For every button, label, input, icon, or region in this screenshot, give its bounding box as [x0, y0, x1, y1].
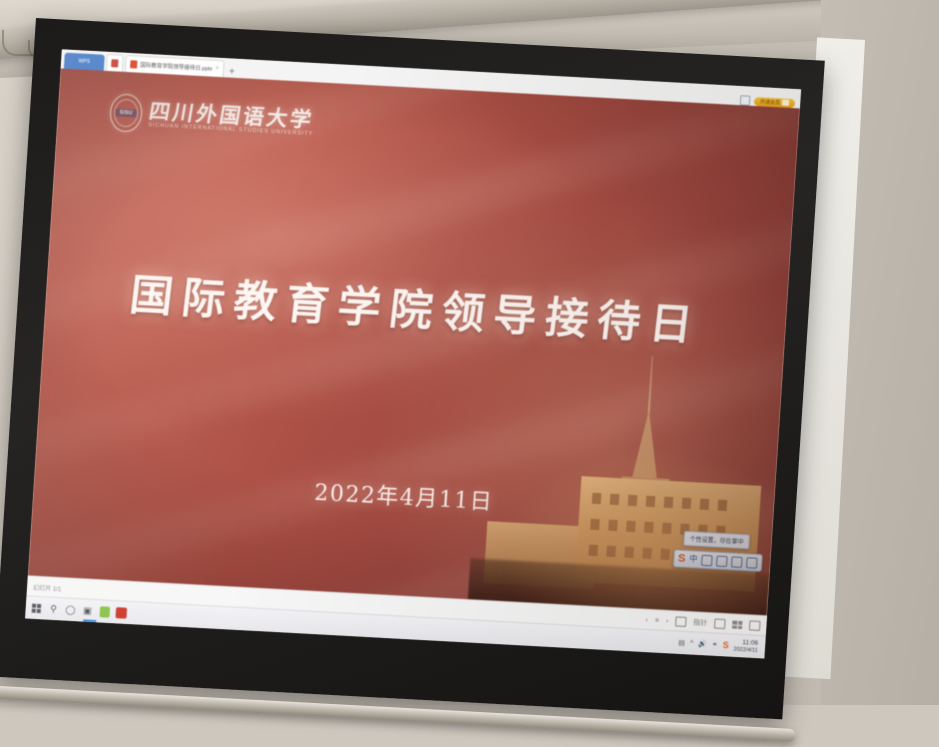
tower-spire — [631, 409, 662, 482]
crest-text: SISU — [119, 110, 132, 117]
toolbox-icon[interactable] — [746, 557, 758, 569]
spire-needle — [648, 356, 654, 414]
pointer-label[interactable]: 指针 — [693, 617, 708, 628]
previous-slide-button[interactable]: ‹ — [645, 616, 648, 623]
wps-red-icon[interactable] — [114, 606, 128, 620]
projection-screen-surface: WPS 国际教育学院领导接待日.pptx × + 开通会员 — [25, 49, 801, 658]
close-icon[interactable]: × — [215, 66, 219, 72]
wps-green-icon[interactable] — [97, 605, 111, 619]
presentation-file-icon — [130, 60, 138, 68]
university-logo-lockup: SISU 四川外国语大学 SICHUAN INTERNATIONAL STUDI… — [109, 93, 315, 142]
clock-date: 2022/4/11 — [733, 646, 757, 654]
search-icon[interactable]: ⚲ — [46, 602, 60, 616]
presenter-view-icon[interactable] — [714, 619, 726, 630]
network-icon[interactable]: ⚭ — [712, 640, 718, 648]
next-slide-button[interactable]: › — [666, 617, 669, 624]
crown-icon — [782, 99, 789, 105]
more-icon[interactable] — [749, 620, 761, 631]
ime-icon[interactable]: ▤ — [678, 639, 685, 647]
system-tray: ▤ ^ 🔊 ⚭ S 11:06 2022/4/11 — [678, 636, 761, 654]
taskbar-clock[interactable]: 11:06 2022/4/11 — [733, 639, 758, 654]
presentation-file-icon — [111, 59, 119, 67]
wps-document-tab-1[interactable] — [106, 54, 124, 72]
sogou-icon[interactable]: S — [723, 640, 730, 650]
volume-icon[interactable]: 🔊 — [698, 640, 707, 648]
pen-icon[interactable] — [701, 554, 713, 566]
slide-indicator: 幻灯片 1/1 — [33, 582, 62, 592]
slide-canvas[interactable]: SISU 四川外国语大学 SICHUAN INTERNATIONAL STUDI… — [28, 68, 800, 616]
projected-desktop: WPS 国际教育学院领导接待日.pptx × + 开通会员 — [25, 49, 801, 658]
slideshow-menu-button[interactable]: ≡ — [655, 617, 660, 624]
vip-button-label: 开通会员 — [760, 98, 780, 106]
windows-start-icon[interactable] — [30, 601, 44, 615]
ime-mode-toggle[interactable]: 中 — [689, 555, 698, 563]
sogou-logo-icon: S — [678, 553, 686, 564]
document-switch-icon[interactable] — [740, 95, 751, 106]
wps-home-tab-label: WPS — [78, 58, 90, 65]
notes-icon[interactable] — [675, 616, 687, 627]
presentation-controls: ‹ ≡ › 指针 — [645, 615, 760, 631]
university-crest-icon: SISU — [109, 93, 143, 133]
new-tab-button[interactable]: + — [229, 68, 235, 78]
cortana-icon[interactable]: ◯ — [63, 603, 77, 617]
task-view-icon[interactable]: ▣ — [80, 604, 94, 618]
grid-icon[interactable] — [732, 621, 743, 630]
show-hidden-icons[interactable]: ^ — [690, 640, 694, 647]
projection-screen: WPS 国际教育学院领导接待日.pptx × + 开通会员 — [0, 18, 825, 719]
wps-document-tab-label: 国际教育学院领导接待日.pptx — [140, 61, 213, 73]
crest-band: SISU — [115, 108, 137, 117]
university-name-block: 四川外国语大学 SICHUAN INTERNATIONAL STUDIES UN… — [148, 100, 315, 137]
keyboard-icon[interactable] — [731, 556, 743, 568]
emoji-icon[interactable] — [716, 555, 728, 567]
